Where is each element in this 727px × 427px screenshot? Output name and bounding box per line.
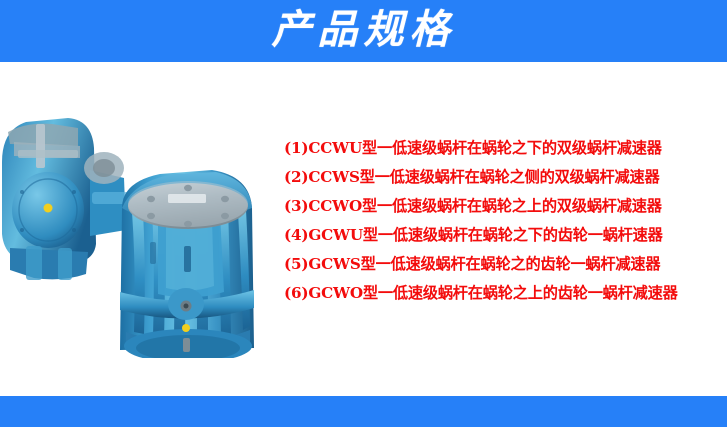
oil-level-indicator	[182, 324, 190, 332]
spec-item-1: (1)CCWU型一低速级蜗杆在蜗轮之下的双级蜗杆减速器	[284, 134, 727, 163]
spec-item-6: (6)GCWO型一低速级蜗杆在蜗轮之上的齿轮一蜗杆减速器	[284, 279, 727, 308]
specification-list: (1)CCWU型一低速级蜗杆在蜗轮之下的双级蜗杆减速器 (2)CCWS型一低速级…	[284, 134, 727, 308]
header-banner: 产品规格	[0, 0, 727, 62]
product-photo	[0, 96, 258, 358]
product-spec-page: 产品规格	[0, 0, 727, 427]
spec-item-2: (2)CCWS型一低速级蜗杆在蜗轮之侧的双级蜗杆减速器	[284, 163, 727, 192]
page-title: 产品规格	[272, 10, 456, 50]
spec-item-5: (5)GCWS型一低速级蜗杆在蜗轮之的齿轮一蜗杆减速器	[284, 250, 727, 279]
footer-banner	[0, 396, 727, 427]
gearbox-illustration	[0, 96, 258, 358]
main-gearbox-body	[120, 170, 254, 358]
oil-plug-indicator	[44, 204, 53, 213]
spec-item-4: (4)GCWU型一低速级蜗杆在蜗轮之下的齿轮一蜗杆速器	[284, 221, 727, 250]
drain-plug	[183, 338, 190, 352]
spec-item-3: (3)CCWO型一低速级蜗杆在蜗轮之上的双级蜗杆减速器	[284, 192, 727, 221]
secondary-worm-unit	[2, 118, 130, 280]
